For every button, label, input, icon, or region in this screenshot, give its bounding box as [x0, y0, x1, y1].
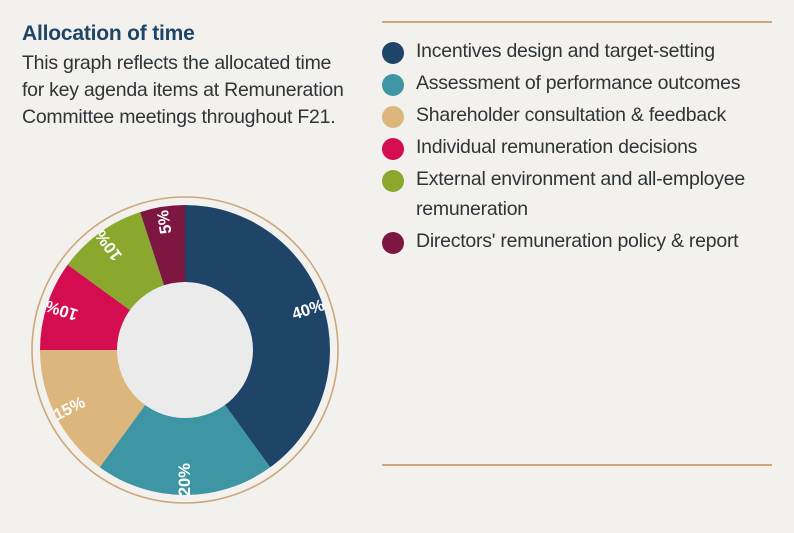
legend-item-label: Directors' remuneration policy & report: [416, 226, 777, 256]
page-title: Allocation of time: [22, 22, 195, 46]
legend-item[interactable]: External environment and all-employee re…: [382, 164, 777, 224]
chart-page: Allocation of time This graph reflects t…: [0, 0, 794, 533]
legend-item[interactable]: Directors' remuneration policy & report: [382, 226, 777, 256]
legend-bullet-icon: [382, 106, 404, 128]
legend-item[interactable]: Incentives design and target-setting: [382, 36, 777, 66]
legend: Incentives design and target-settingAsse…: [382, 0, 782, 533]
legend-item-label: Shareholder consultation & feedback: [416, 100, 777, 130]
legend-item[interactable]: Individual remuneration decisions: [382, 132, 777, 162]
legend-item[interactable]: Shareholder consultation & feedback: [382, 100, 777, 130]
legend-bullet-icon: [382, 42, 404, 64]
legend-bullet-icon: [382, 138, 404, 160]
legend-list: Incentives design and target-settingAsse…: [382, 36, 777, 258]
donut-chart-svg: 40%20%15%10%10%5%: [25, 190, 345, 510]
legend-bullet-icon: [382, 170, 404, 192]
legend-rule-bottom: [382, 464, 772, 466]
legend-rule-top: [382, 21, 772, 23]
legend-item-label: Assessment of performance outcomes: [416, 68, 777, 98]
donut-center-hole: [117, 282, 253, 418]
slice-value-label: 5%: [154, 208, 176, 235]
donut-chart: 40%20%15%10%10%5%: [25, 190, 345, 510]
legend-item-label: Individual remuneration decisions: [416, 132, 777, 162]
panel-description: This graph reflects the allocated time f…: [22, 50, 357, 131]
legend-bullet-icon: [382, 74, 404, 96]
legend-item-label: External environment and all-employee re…: [416, 164, 777, 224]
legend-bullet-icon: [382, 232, 404, 254]
slice-value-label: 20%: [176, 463, 194, 496]
legend-item[interactable]: Assessment of performance outcomes: [382, 68, 777, 98]
legend-item-label: Incentives design and target-setting: [416, 36, 777, 66]
